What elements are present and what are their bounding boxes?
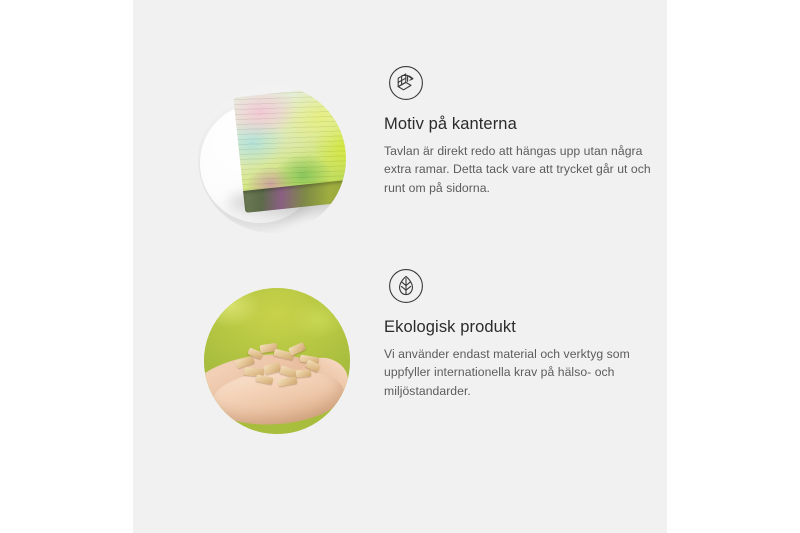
feature-title: Motiv på kanterna	[384, 115, 654, 135]
feature-text-block: Ekologisk produkt Vi använder endast mat…	[384, 318, 654, 400]
canvas-print-block	[233, 85, 346, 213]
leaf-icon	[385, 265, 427, 307]
feature-description: Tavlan är direkt redo att hängas upp uta…	[384, 142, 654, 198]
product-feature-graphic: Motiv på kanterna Tavlan är direkt redo …	[0, 0, 800, 533]
feature-description: Vi använder endast material och verktyg …	[384, 345, 654, 401]
canvas-print-corner-image	[198, 85, 346, 233]
wood-chips-pile	[234, 342, 326, 388]
canvas-artwork-face	[233, 85, 346, 195]
canvas-wrap-edge-icon	[385, 62, 427, 104]
feature-title: Ekologisk produkt	[384, 318, 654, 338]
feature-text-block: Motiv på kanterna Tavlan är direkt redo …	[384, 115, 654, 197]
hands-holding-wood-chips-image	[204, 288, 350, 434]
content-panel: Motiv på kanterna Tavlan är direkt redo …	[133, 0, 667, 533]
